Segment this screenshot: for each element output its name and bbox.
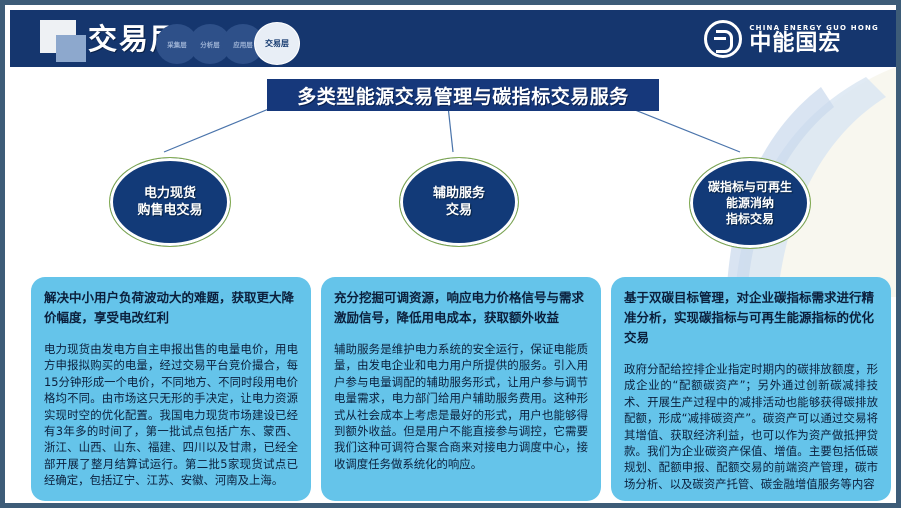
tab-collection-layer-label: 采集层 [167, 39, 187, 49]
main-title-banner: 多类型能源交易管理与碳指标交易服务 [267, 79, 659, 111]
content-card-ancillary-service-heading: 充分挖掘可调资源，响应电力价格信号与需求激励信号，降低用电成本，获取额外收益 [334, 288, 588, 328]
energy-g-logo-icon [704, 20, 742, 58]
node-carbon-renewable-index-trading[interactable]: 碳指标与可再生 能源消纳 指标交易 [689, 157, 811, 249]
node-spot-power-trading[interactable]: 电力现货 购售电交易 [109, 157, 231, 247]
company-logo: CHINA ENERGY GUO HONG 中能国宏 [704, 19, 879, 59]
logo-chinese-name: 中能国宏 [749, 33, 879, 55]
node-ancillary-service-trading[interactable]: 辅助服务 交易 [399, 157, 519, 247]
content-card-carbon-index-body: 政府分配给控排企业指定时期内的碳排放额度，形成企业的“配额碳资产”；另外通过创新… [624, 361, 878, 492]
tab-transaction-layer-label: 交易层 [265, 38, 289, 49]
tab-application-layer-label: 应用层 [233, 39, 253, 49]
main-title-text: 多类型能源交易管理与碳指标交易服务 [297, 82, 629, 109]
content-card-carbon-index: 基于双碳目标管理，对企业碳指标需求进行精准分析，实现碳指标与可再生能源指标的优化… [611, 277, 891, 501]
layered-squares-icon-front [56, 35, 86, 62]
tab-transaction-layer[interactable]: 交易层 [255, 23, 299, 64]
content-card-spot-power-body: 电力现货由发电方自主申报出售的电量电价，用电方申报拟购买的电量，经过交易平台竞价… [44, 341, 298, 489]
tab-analysis-layer-label: 分析层 [200, 39, 220, 49]
node-spot-power-trading-label: 电力现货 购售电交易 [137, 185, 202, 219]
slide-canvas: 交易层 采集层 分析层 应用层 交易层 CHINA ENERGY GUO HON… [0, 0, 901, 508]
content-card-spot-power: 解决中小用户负荷波动大的难题，获取更大降价幅度，享受电改红利 电力现货由发电方自… [31, 277, 311, 501]
node-carbon-renewable-index-trading-label: 碳指标与可再生 能源消纳 指标交易 [708, 179, 792, 227]
header-bar: 交易层 采集层 分析层 应用层 交易层 CHINA ENERGY GUO HON… [10, 10, 901, 67]
node-ancillary-service-trading-label: 辅助服务 交易 [433, 185, 485, 219]
content-card-spot-power-heading: 解决中小用户负荷波动大的难题，获取更大降价幅度，享受电改红利 [44, 288, 298, 328]
content-card-ancillary-service: 充分挖掘可调资源，响应电力价格信号与需求激励信号，降低用电成本，获取额外收益 辅… [321, 277, 601, 501]
content-card-carbon-index-heading: 基于双碳目标管理，对企业碳指标需求进行精准分析，实现碳指标与可再生能源指标的优化… [624, 288, 878, 348]
content-card-ancillary-service-body: 辅助服务是维护电力系统的安全运行，保证电能质量，由发电企业和电力用户所提供的服务… [334, 341, 588, 472]
